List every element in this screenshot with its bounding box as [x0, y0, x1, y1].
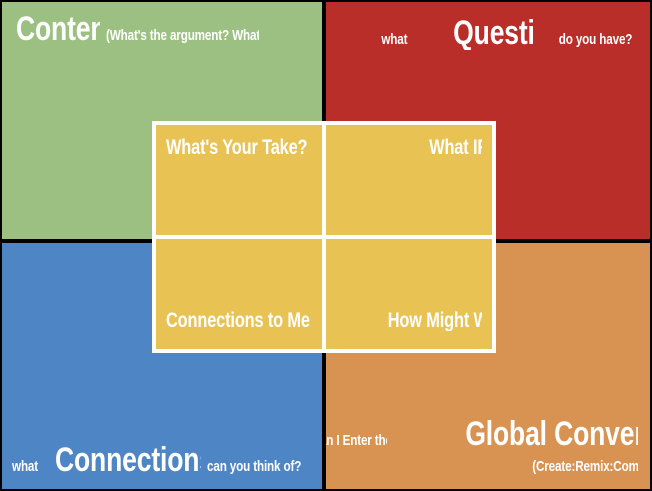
card-conn-label: Connections to Me [166, 310, 310, 331]
connections-prefix-wrap: what [12, 459, 50, 475]
card-conn-squeeze: Connections to Me [166, 310, 313, 331]
global-subtext-wrap: (Create:Remix:Communicate) [487, 459, 638, 475]
questions-suffix-wrap: do you have? [538, 32, 636, 48]
content-label: Content (What's the argument? What's the… [16, 12, 259, 46]
global-headline: Global Conversation [465, 417, 638, 451]
global-headline-wrap: Global Conversation [393, 417, 638, 451]
questions-headline-wrap: Questions [417, 16, 533, 50]
global-prefix-wrap: How Can I Enter the [326, 433, 387, 449]
card-conn-text-wrap: Connections to Me [166, 310, 313, 335]
card-whatif-text-wrap: What IF? [410, 137, 482, 162]
connections-suffix-wrap: can you think of? [207, 459, 322, 475]
card-whats-your-take[interactable]: What's Your Take? [156, 125, 322, 235]
global-subtext: (Create:Remix:Communicate) [532, 459, 638, 474]
global-prefix: How Can I Enter the [326, 433, 387, 448]
card-how-squeeze: How Might We? [354, 310, 482, 331]
content-headline: Content [16, 12, 100, 46]
connections-prefix: what [12, 459, 38, 474]
card-connections-to-me[interactable]: Connections to Me [156, 239, 322, 349]
card-take-squeeze: What's Your Take? [166, 137, 309, 158]
poster-canvas: Content (What's the argument? What's the… [0, 0, 652, 491]
global-subtext-line: (Create:Remix:Communicate) [487, 459, 638, 475]
card-whatif-label: What IF? [429, 137, 482, 158]
card-what-if[interactable]: What IF? [326, 125, 492, 235]
connections-suffix: can you think of? [207, 459, 301, 474]
connections-label: what Connections can you think of? [12, 443, 322, 477]
center-card-cluster: What's Your Take? What IF? Connections t… [152, 121, 496, 353]
global-label: How Can I Enter the Global Conversation [326, 417, 638, 451]
card-take-text-wrap: What's Your Take? [166, 137, 309, 162]
card-how-text-wrap: How Might We? [354, 310, 482, 335]
questions-prefix-wrap: what [374, 32, 412, 48]
card-how-might-we[interactable]: How Might We? [326, 239, 492, 349]
content-subtext-wrap: (What's the argument? What's the context… [106, 28, 259, 44]
content-subtext: (What's the argument? What's the context… [106, 28, 259, 43]
questions-label: what Questions do you have? [374, 16, 636, 50]
questions-prefix: what [381, 32, 407, 47]
connections-headline: Connections [55, 443, 201, 477]
card-whatif-squeeze: What IF? [410, 137, 482, 158]
card-how-label: How Might We? [388, 310, 482, 331]
questions-suffix: do you have? [559, 32, 633, 47]
questions-headline: Questions [453, 16, 533, 50]
card-take-label: What's Your Take? [166, 137, 307, 158]
content-headline-wrap: Content [16, 12, 100, 46]
connections-headline-wrap: Connections [55, 443, 201, 477]
